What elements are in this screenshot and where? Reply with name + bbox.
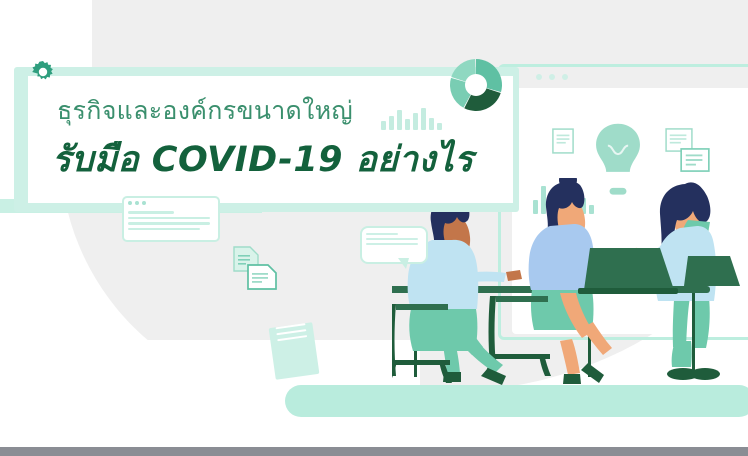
content-line [128,211,174,214]
floor-shadow [285,385,748,417]
bar-chart-bar [381,121,386,130]
speech-bubble-lines [366,233,418,248]
bar-chart-bar [389,116,394,130]
content-line [366,243,418,245]
content-line [366,238,418,240]
bar-chart-bar [405,119,410,130]
clipboard-note-icon [269,322,320,380]
content-line [128,217,210,220]
bar-chart-bar [413,113,418,130]
bar-chart-bar [429,118,434,130]
page-title-line1: ธุรกิจและองค์กรขนาดใหญ่ [57,96,353,126]
banner-image: ธุรกิจและองค์กรขนาดใหญ่ รับมือ COVID-19 … [0,0,748,456]
browser-content-lines [128,211,210,233]
speech-bubble-tail [398,258,409,269]
gear-icon [31,60,55,84]
window-dots [128,201,146,205]
bar-chart-icon [381,108,442,130]
donut-chart-icon [449,58,503,112]
document-icon [247,264,277,290]
content-line [128,228,200,231]
bottom-bar [0,447,748,456]
content-line [128,222,210,225]
document-icon [680,148,710,172]
bar-chart-bar [437,123,442,130]
page-title-line2: รับมือ COVID-19 อย่างไร [52,138,473,182]
laptop-icon [584,248,674,290]
office-team-illustration [392,178,748,408]
bar-chart-bar [397,110,402,130]
content-line [366,233,398,235]
window-dots [536,74,568,80]
bar-chart-bar [421,108,426,130]
document-icon [552,128,574,154]
